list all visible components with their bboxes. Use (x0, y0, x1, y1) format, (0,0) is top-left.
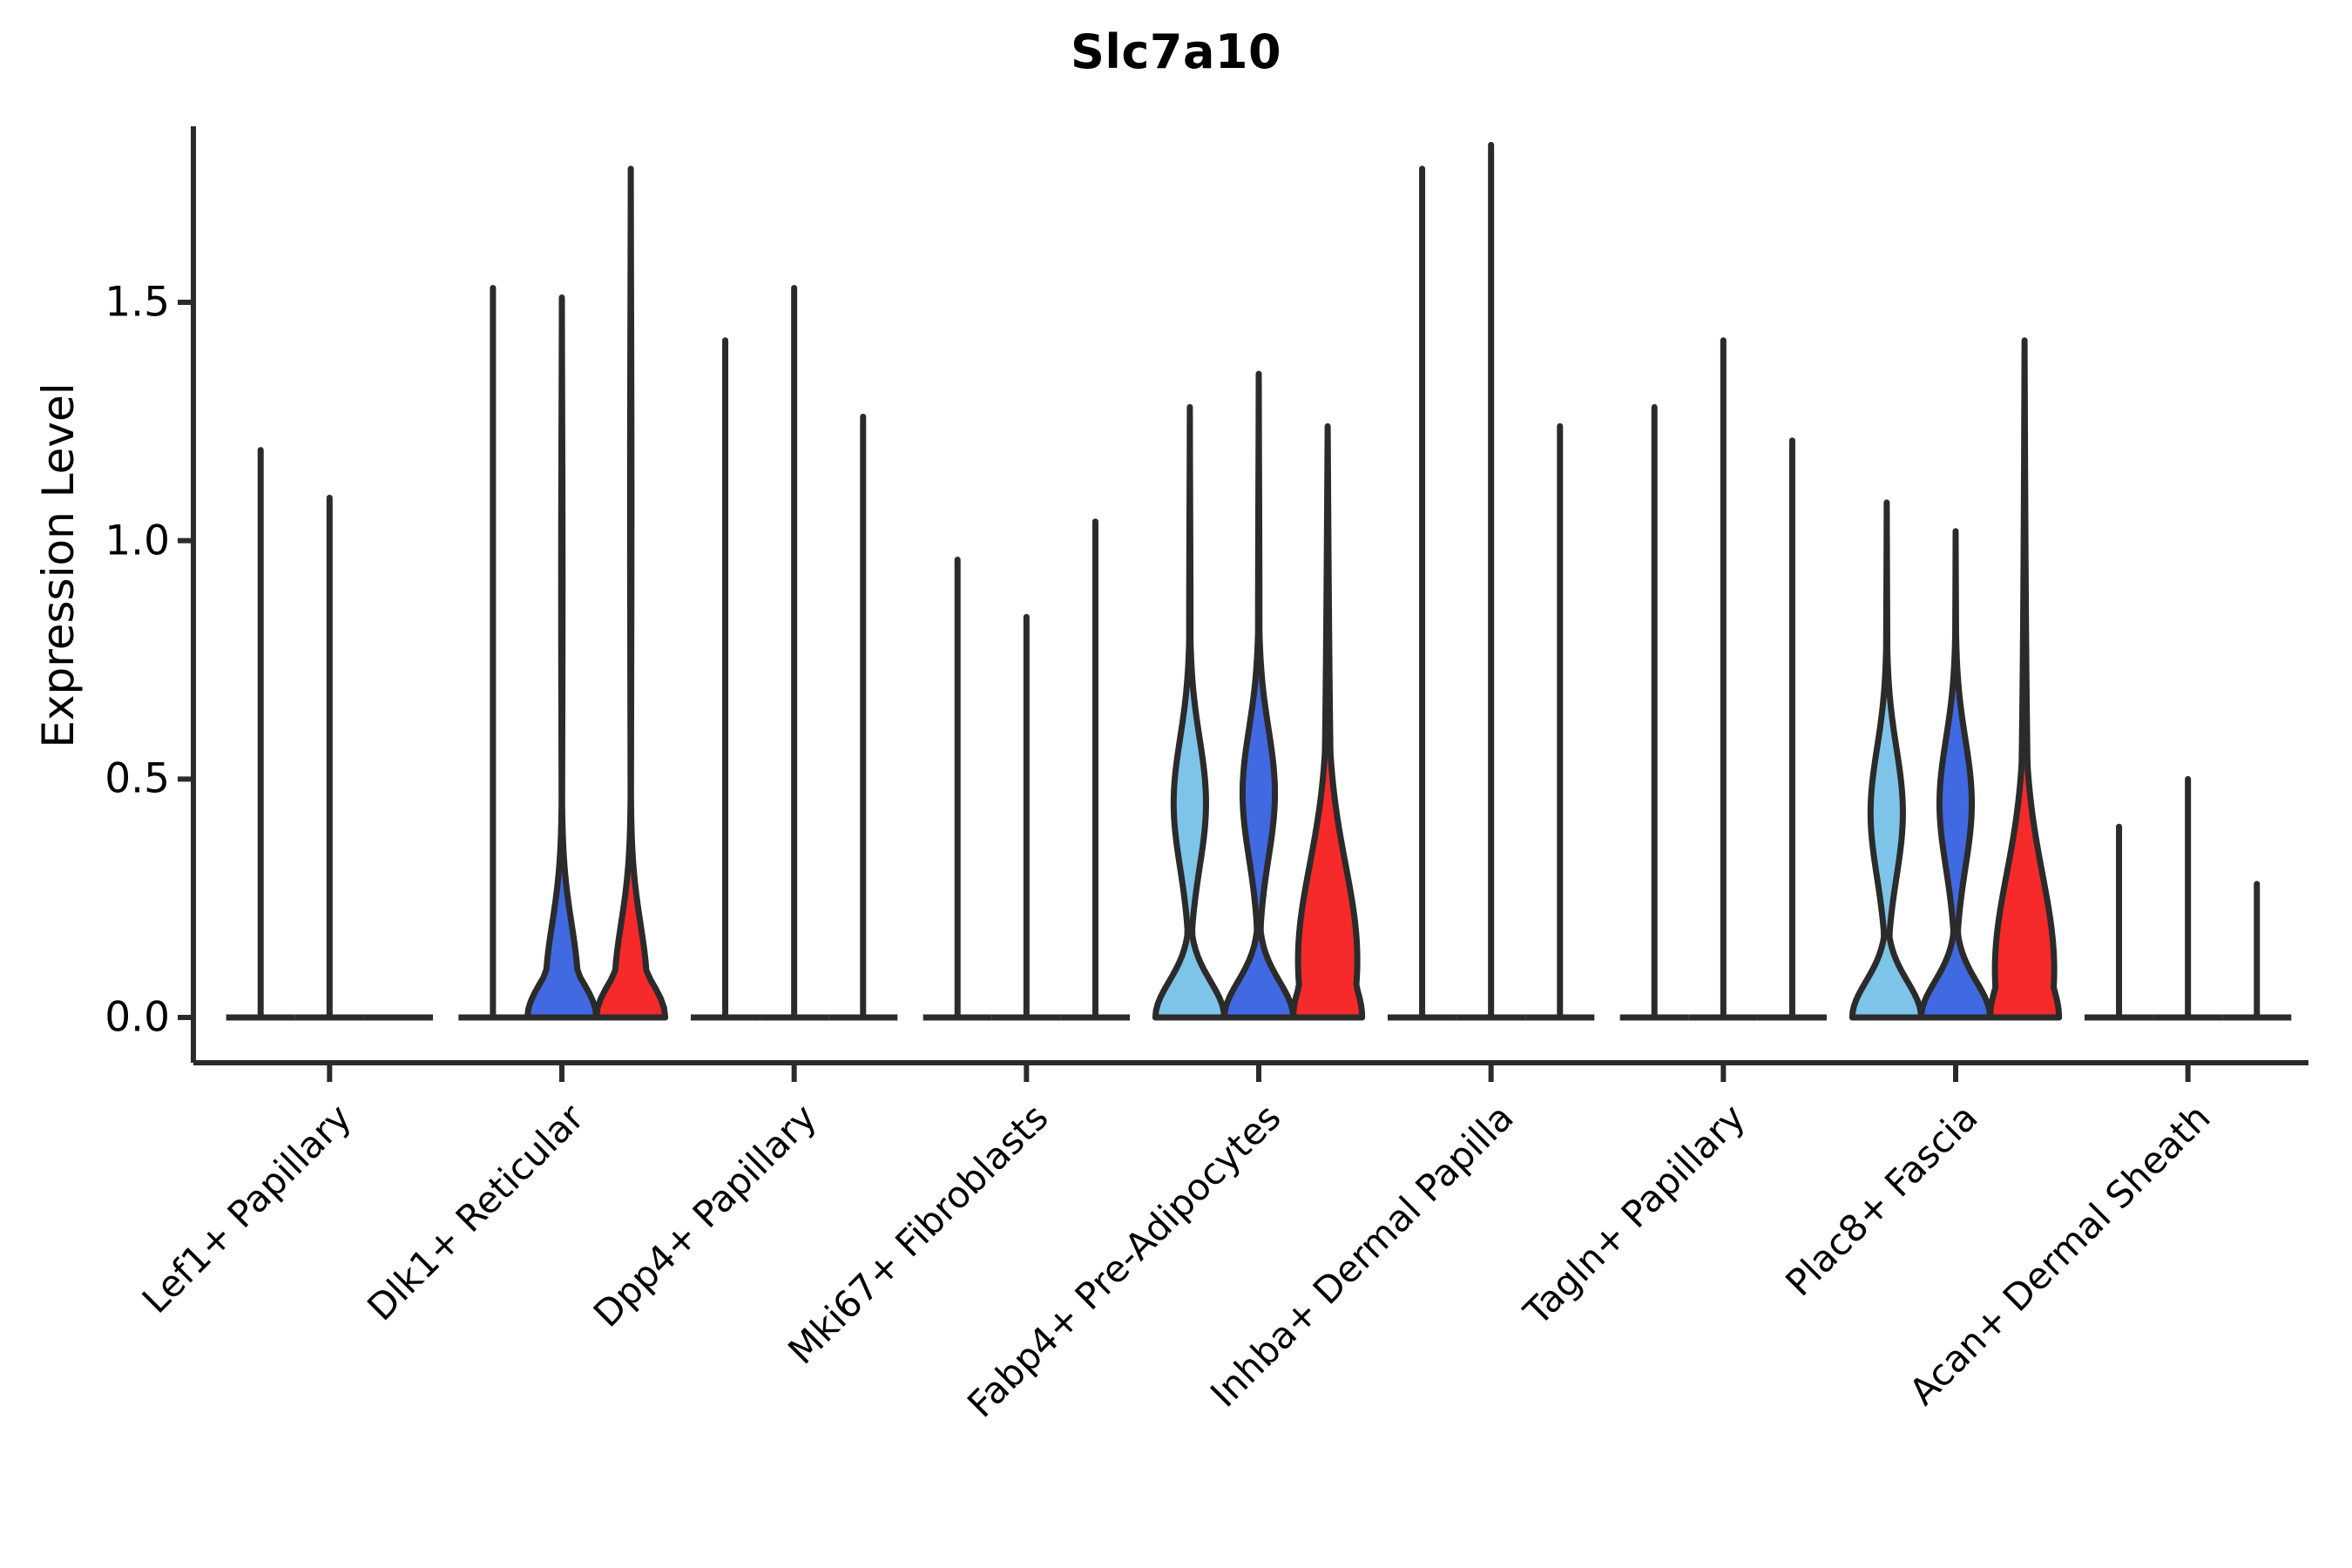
violin-group-2 (1224, 374, 1293, 1017)
violin-body (1852, 503, 1921, 1017)
violin-group-2 (2153, 779, 2222, 1017)
violin-group-3 (1061, 522, 1130, 1017)
violin-group-1 (1155, 407, 1224, 1017)
violin-body (1294, 426, 1362, 1017)
violin-body (527, 298, 596, 1017)
violin-group-2 (1456, 145, 1525, 1017)
violin-body (1224, 374, 1293, 1017)
violin-plot-figure: Slc7a10 Expression Level 0.00.51.01.5 Le… (0, 0, 2352, 1568)
violin-group-3 (828, 416, 897, 1017)
violin-group-2 (527, 298, 596, 1017)
violin-group-2 (760, 288, 828, 1017)
violin-group-1 (923, 560, 992, 1017)
violin-body (597, 169, 666, 1017)
violin-group-3 (597, 169, 666, 1017)
violin-group-1 (2085, 827, 2153, 1017)
violin-group-2 (295, 497, 364, 1017)
violin-group-3 (1294, 426, 1362, 1017)
violin-group-2 (1689, 341, 1758, 1017)
violin-group-1 (226, 450, 295, 1017)
violin-group-1 (458, 288, 527, 1017)
violin-body (1921, 531, 1990, 1017)
violin-group-1 (691, 341, 760, 1017)
violin-group-1 (1620, 407, 1689, 1017)
violin-group-1 (1388, 169, 1456, 1017)
violin-group-3 (2222, 884, 2291, 1017)
violin-group-1 (1852, 503, 1921, 1017)
violin-body (1990, 341, 2059, 1017)
violin-group-2 (1921, 531, 1990, 1017)
violin-group-3 (1525, 426, 1594, 1017)
violin-group-2 (992, 617, 1061, 1017)
violin-body (1155, 407, 1224, 1017)
violin-group-3 (1758, 441, 1827, 1017)
violin-group-3 (1990, 341, 2059, 1017)
